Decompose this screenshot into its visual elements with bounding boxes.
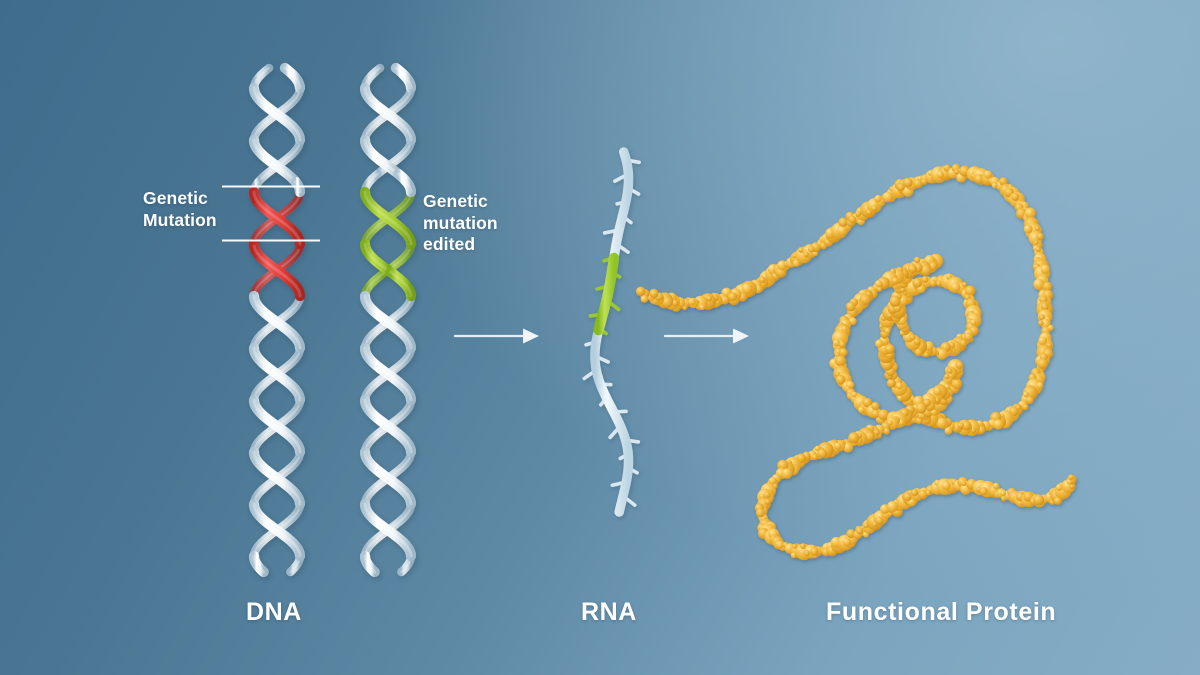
genetic-mutation-label: Genetic Mutation [143, 188, 217, 231]
caption-dna: DNA [246, 597, 302, 628]
arrow-dna-to-rna [455, 329, 539, 344]
functional-protein [636, 164, 1077, 560]
diagram-canvas: Genetic Mutation Genetic mutation edited… [0, 0, 1200, 675]
caption-functional-protein: Functional Protein [826, 597, 1056, 628]
dna-helix-edited [365, 68, 411, 572]
dna-helix-mutated [254, 68, 300, 572]
arrow-rna-to-protein [665, 329, 749, 344]
molecule-layer [0, 0, 1200, 675]
caption-rna: RNA [581, 597, 637, 628]
genetic-mutation-edited-label: Genetic mutation edited [423, 191, 498, 256]
rna-strand [584, 152, 639, 512]
